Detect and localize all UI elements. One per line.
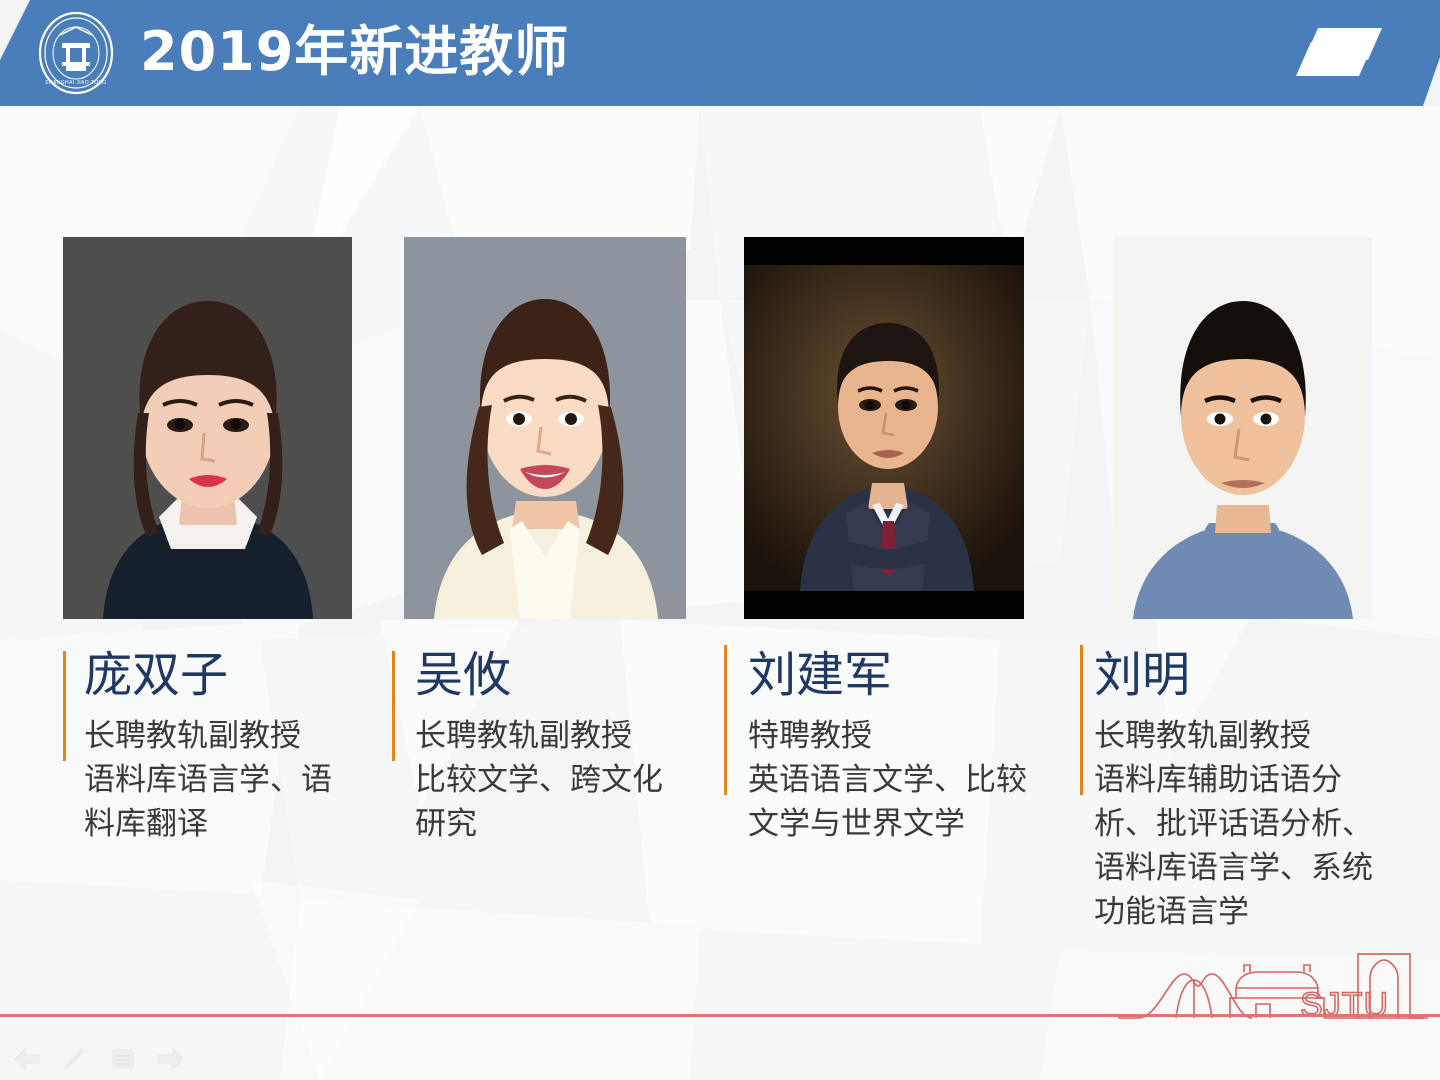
sjtu-seal-logo-icon: SHANGHAI JIAO TONG (36, 11, 116, 95)
person-photo (404, 237, 686, 619)
menu-icon[interactable] (110, 1047, 136, 1071)
accent-divider (63, 651, 66, 761)
svg-text:SHANGHAI JIAO TONG: SHANGHAI JIAO TONG (45, 80, 106, 86)
person-name: 刘建军 (748, 648, 892, 704)
person-research: 语料库辅助话语分析、批评话语分析、语料库语言学、系统功能语言学 (1094, 758, 1399, 934)
sjtu-skyline-logo-icon: SJTU (1118, 938, 1428, 1026)
skyline-sjtu-label: SJTU (1300, 986, 1389, 1024)
presentation-slide: SHANGHAI JIAO TONG 2019年新进教师 (0, 0, 1440, 1080)
person-research: 比较文学、跨文化研究 (415, 758, 687, 846)
ppt-slideshow-controls[interactable] (14, 1042, 194, 1076)
pen-icon[interactable] (62, 1047, 88, 1071)
person-title: 长聘教轨副教授 (1094, 714, 1404, 758)
person-name: 刘明 (1094, 648, 1190, 704)
person-research: 语料库语言学、语料库翻译 (84, 758, 362, 846)
person-title: 长聘教轨副教授 (415, 714, 695, 758)
person-name: 吴攸 (415, 648, 511, 704)
person-title: 长聘教轨副教授 (84, 714, 364, 758)
accent-divider (724, 645, 727, 795)
person-name: 庞双子 (84, 648, 228, 704)
footer-rule (0, 1014, 1440, 1017)
person-title: 特聘教授 (748, 714, 1038, 758)
page-title: 2019年新进教师 (140, 16, 569, 88)
previous-arrow-icon[interactable] (14, 1047, 40, 1071)
accent-divider (392, 651, 395, 761)
person-photo (63, 237, 352, 619)
next-arrow-icon[interactable] (158, 1047, 184, 1071)
person-research: 英语语言文学、比较文学与世界文学 (748, 758, 1048, 846)
person-photo (1113, 237, 1372, 619)
person-photo (744, 237, 1024, 619)
accent-divider (1080, 645, 1083, 795)
